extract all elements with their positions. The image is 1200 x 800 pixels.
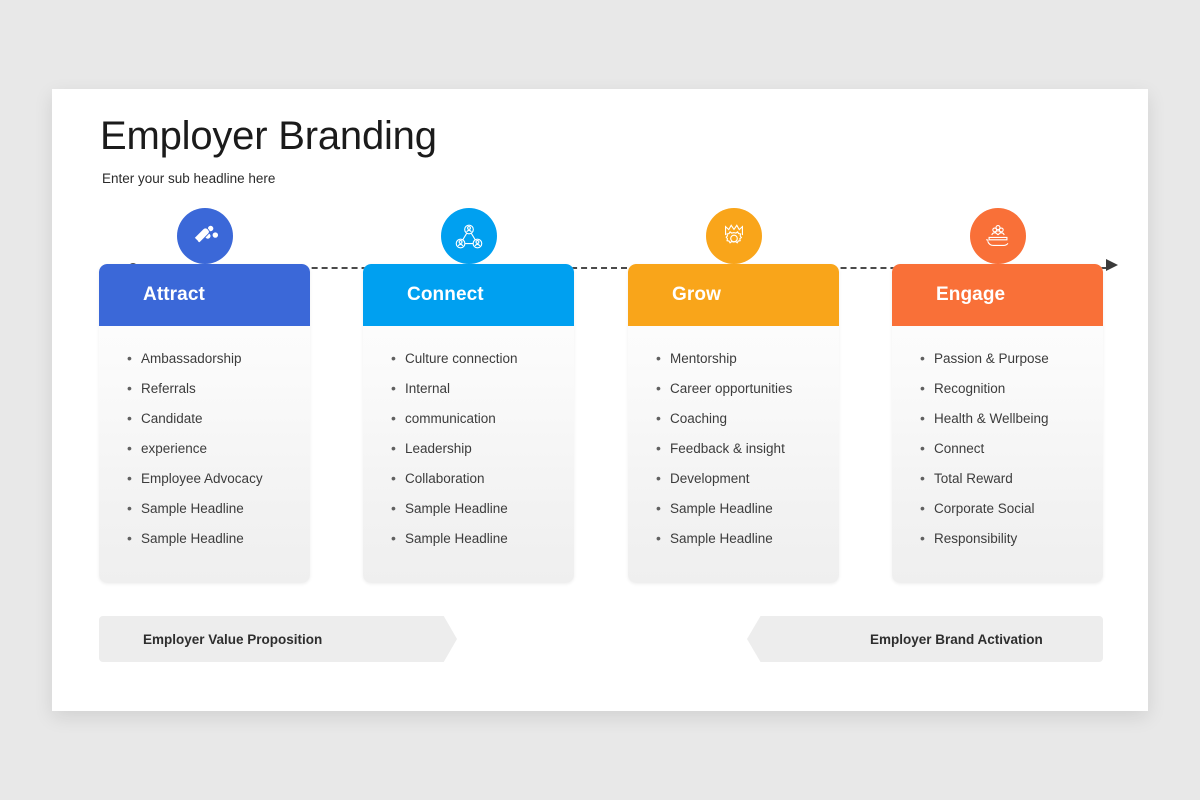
engage-list: •Passion & Purpose •Recognition •Health … xyxy=(892,326,1103,583)
list-item: •Total Reward xyxy=(920,470,1103,487)
list-item: •communication xyxy=(391,410,574,427)
slide-canvas: Employer Branding Enter your sub headlin… xyxy=(52,89,1148,711)
attract-title: Attract xyxy=(143,284,205,306)
bullet-icon: • xyxy=(391,500,405,517)
list-item: •Mentorship xyxy=(656,350,839,367)
banner-row: Employer Value Proposition Employer Bran… xyxy=(99,616,1103,662)
connect-list: •Culture connection •Internal •communica… xyxy=(363,326,574,583)
grow-badge[interactable] xyxy=(706,208,762,264)
grow-card-header: Grow xyxy=(628,264,839,326)
grow-card: Grow •Mentorship •Career opportunities •… xyxy=(628,264,839,583)
list-item: •Employee Advocacy xyxy=(127,470,310,487)
attract-card: Attract •Ambassadorship •Referrals •Cand… xyxy=(99,264,310,583)
connect-card: Connect •Culture connection •Internal •c… xyxy=(363,264,574,583)
stage-engage[interactable]: Engage •Passion & Purpose •Recognition •… xyxy=(892,264,1103,583)
bullet-icon: • xyxy=(656,500,670,517)
bullet-icon: • xyxy=(656,530,670,547)
bullet-icon: • xyxy=(920,500,934,517)
list-item: •Passion & Purpose xyxy=(920,350,1103,367)
attract-badge[interactable] xyxy=(177,208,233,264)
bullet-icon: • xyxy=(920,410,934,427)
list-item: •Sample Headline xyxy=(656,500,839,517)
bullet-icon: • xyxy=(127,500,141,517)
list-item: •Sample Headline xyxy=(656,530,839,547)
list-item: •Career opportunities xyxy=(656,380,839,397)
bullet-icon: • xyxy=(656,410,670,427)
attract-card-header: Attract xyxy=(99,264,310,326)
hand-holding-people-icon xyxy=(983,221,1013,251)
bullet-icon: • xyxy=(391,380,405,397)
banner-employer-value-proposition[interactable]: Employer Value Proposition xyxy=(99,616,457,662)
bullet-icon: • xyxy=(391,410,405,427)
list-item: •Sample Headline xyxy=(127,530,310,547)
bullet-icon: • xyxy=(656,380,670,397)
list-item: •Referrals xyxy=(127,380,310,397)
attract-list: •Ambassadorship •Referrals •Candidate •e… xyxy=(99,326,310,583)
bullet-icon: • xyxy=(127,470,141,487)
connect-badge[interactable] xyxy=(441,208,497,264)
bullet-icon: • xyxy=(391,350,405,367)
people-network-icon xyxy=(454,221,484,251)
grow-list: •Mentorship •Career opportunities •Coach… xyxy=(628,326,839,583)
bullet-icon: • xyxy=(127,530,141,547)
magnet-attract-icon xyxy=(190,221,220,251)
list-item: •Development xyxy=(656,470,839,487)
engage-card-header: Engage xyxy=(892,264,1103,326)
bullet-icon: • xyxy=(920,440,934,457)
connect-card-header: Connect xyxy=(363,264,574,326)
list-item: •Feedback & insight xyxy=(656,440,839,457)
bullet-icon: • xyxy=(127,380,141,397)
list-item: •Connect xyxy=(920,440,1103,457)
stage-grow[interactable]: Grow •Mentorship •Career opportunities •… xyxy=(628,264,839,583)
bullet-icon: • xyxy=(920,380,934,397)
bullet-icon: • xyxy=(920,350,934,367)
crown-gear-icon xyxy=(719,221,749,251)
page-title: Employer Branding xyxy=(100,113,437,160)
slide-header: Employer Branding Enter your sub headlin… xyxy=(100,113,437,186)
list-item: •experience xyxy=(127,440,310,457)
bullet-icon: • xyxy=(391,440,405,457)
list-item: •Coaching xyxy=(656,410,839,427)
bullet-icon: • xyxy=(127,350,141,367)
list-item: •Culture connection xyxy=(391,350,574,367)
timeline-arrow-icon xyxy=(1106,259,1118,271)
engage-title: Engage xyxy=(936,284,1005,306)
list-item: •Internal xyxy=(391,380,574,397)
stage-connect[interactable]: Connect •Culture connection •Internal •c… xyxy=(363,264,574,583)
list-item: •Responsibility xyxy=(920,530,1103,547)
list-item: •Corporate Social xyxy=(920,500,1103,517)
bullet-icon: • xyxy=(391,530,405,547)
grow-title: Grow xyxy=(672,284,721,306)
bullet-icon: • xyxy=(127,410,141,427)
bullet-icon: • xyxy=(656,470,670,487)
page-subtitle: Enter your sub headline here xyxy=(102,171,437,186)
bullet-icon: • xyxy=(391,470,405,487)
list-item: •Candidate xyxy=(127,410,310,427)
banner-right-label: Employer Brand Activation xyxy=(870,632,1043,647)
list-item: •Health & Wellbeing xyxy=(920,410,1103,427)
stage-attract[interactable]: Attract •Ambassadorship •Referrals •Cand… xyxy=(99,264,310,583)
bullet-icon: • xyxy=(656,350,670,367)
list-item: •Collaboration xyxy=(391,470,574,487)
bullet-icon: • xyxy=(656,440,670,457)
list-item: •Ambassadorship xyxy=(127,350,310,367)
bullet-icon: • xyxy=(127,440,141,457)
stages-container: Attract •Ambassadorship •Referrals •Cand… xyxy=(99,208,1103,638)
banner-left-label: Employer Value Proposition xyxy=(143,632,322,647)
engage-badge[interactable] xyxy=(970,208,1026,264)
bullet-icon: • xyxy=(920,470,934,487)
banner-employer-brand-activation[interactable]: Employer Brand Activation xyxy=(747,616,1103,662)
list-item: •Sample Headline xyxy=(391,530,574,547)
bullet-icon: • xyxy=(920,530,934,547)
list-item: •Sample Headline xyxy=(127,500,310,517)
connect-title: Connect xyxy=(407,284,484,306)
engage-card: Engage •Passion & Purpose •Recognition •… xyxy=(892,264,1103,583)
list-item: •Leadership xyxy=(391,440,574,457)
list-item: •Recognition xyxy=(920,380,1103,397)
list-item: •Sample Headline xyxy=(391,500,574,517)
